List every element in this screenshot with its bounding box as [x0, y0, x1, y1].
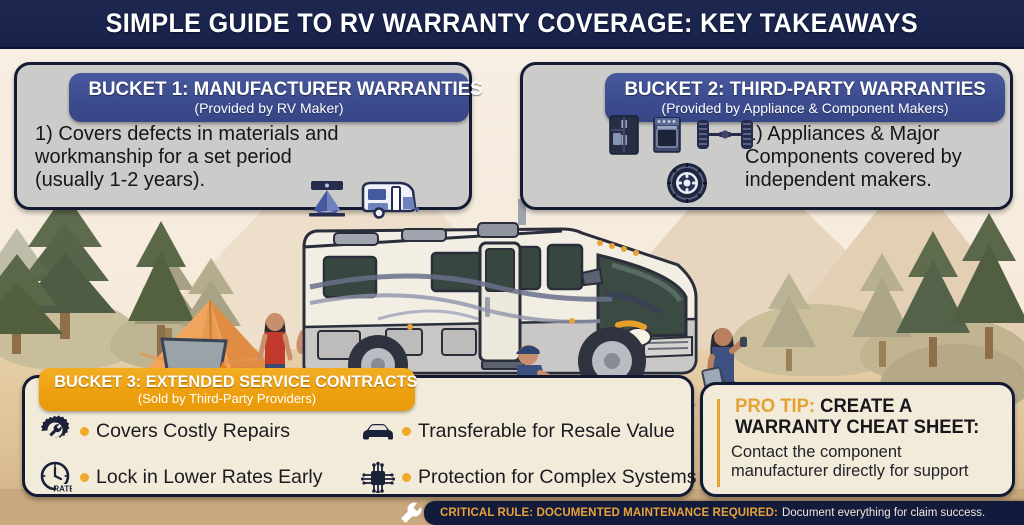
bullet-dot — [402, 473, 411, 482]
bucket-1-panel: BUCKET 1: MANUFACTURER WARRANTIES (Provi… — [14, 62, 472, 210]
bucket-3-panel: BUCKET 3: EXTENDED SERVICE CONTRACTS (So… — [22, 375, 694, 497]
bucket-1-header-subtitle: (Provided by RV Maker) — [81, 100, 457, 116]
list-item-label: Transferable for Resale Value — [418, 420, 675, 443]
bucket-3-header: BUCKET 3: EXTENDED SERVICE CONTRACTS (So… — [39, 368, 415, 411]
bucket-3-header-title: BUCKET 3: EXTENDED SERVICE CONTRACTS — [54, 372, 400, 392]
bucket-2-panel: BUCKET 2: THIRD-PARTY WARRANTIES (Provid… — [520, 62, 1013, 210]
pro-tip-panel: PRO TIP: CREATE A WARRANTY CHEAT SHEET: … — [700, 382, 1015, 497]
pro-tip-heading: PRO TIP: CREATE A WARRANTY CHEAT SHEET: — [735, 396, 1005, 439]
list-item-label: Covers Costly Repairs — [96, 420, 290, 443]
axle-icon — [695, 118, 755, 152]
microchip-icon — [361, 460, 395, 494]
pro-tip-body-line2: manufacturer directly for support — [731, 462, 969, 480]
oven-icon — [653, 117, 681, 153]
pine-tree — [0, 224, 65, 354]
bucket-3-left-column: Covers Costly Repairs — [25, 414, 355, 494]
bucket-3-items: Covers Costly Repairs — [25, 414, 697, 494]
svg-text:RATE: RATE — [53, 485, 72, 494]
critical-rule-bar: CRITICAL RULE: DOCUMENTED MAINTENANCE RE… — [424, 501, 1024, 525]
refrigerator-icon — [609, 115, 639, 155]
bucket-2-header-subtitle: (Provided by Appliance & Component Maker… — [617, 100, 993, 116]
title-bar: SIMPLE GUIDE TO RV WARRANTY COVERAGE: KE… — [0, 0, 1024, 49]
wrench-icon — [398, 500, 424, 525]
bucket-2-icons-top — [609, 115, 755, 155]
page-title: SIMPLE GUIDE TO RV WARRANTY COVERAGE: KE… — [106, 8, 918, 39]
pro-tip-body-line1: Contact the component — [731, 443, 902, 461]
list-item-label: Lock in Lower Rates Early — [96, 466, 323, 489]
list-item[interactable]: Covers Costly Repairs — [39, 414, 355, 448]
bottom-bar-area: CRITICAL RULE: DOCUMENTED MAINTENANCE RE… — [0, 499, 1024, 525]
pro-tip-heading-line2: WARRANTY CHEAT SHEET: — [735, 417, 979, 438]
bucket-2-header-title: BUCKET 2: THIRD-PARTY WARRANTIES — [625, 78, 986, 101]
gear-wrench-icon — [39, 414, 73, 448]
bucket-3-header-subtitle: (Sold by Third-Party Providers) — [47, 391, 407, 406]
pro-tip-content: PRO TIP: CREATE A WARRANTY CHEAT SHEET: … — [731, 396, 1009, 481]
pro-tip-accent-bar — [717, 399, 720, 487]
pine-tree — [946, 209, 1024, 359]
pine-tree-icon — [0, 224, 65, 354]
critical-rule-label: CRITICAL RULE: DOCUMENTED MAINTENANCE RE… — [440, 507, 778, 519]
pine-tree-icon — [756, 269, 822, 371]
bucket-3-right-column: Transferable for Resale Value — [355, 414, 697, 494]
list-item[interactable]: Transferable for Resale Value — [361, 414, 697, 448]
pine-tree-icon — [946, 209, 1024, 359]
list-item[interactable]: Protection for Complex Systems — [361, 460, 697, 494]
list-item-label: Protection for Complex Systems — [418, 466, 697, 489]
critical-rule-text: Document everything for claim success. — [782, 507, 985, 519]
bullet-dot — [80, 473, 89, 482]
bucket-2-body-text: 1) Appliances & Major Components covered… — [745, 123, 1010, 191]
bucket-2-icons-bottom — [666, 162, 708, 209]
bullet-dot — [402, 427, 411, 436]
bucket-1-header: BUCKET 1: MANUFACTURER WARRANTIES (Provi… — [69, 73, 469, 122]
awning-icon — [305, 177, 349, 219]
list-item[interactable]: RATE Lock in Lower Rates Early — [39, 460, 355, 494]
infographic-canvas: SIMPLE GUIDE TO RV WARRANTY COVERAGE: KE… — [0, 0, 1024, 525]
tire-icon — [666, 162, 708, 204]
clock-rate-icon: RATE — [39, 460, 73, 494]
pro-tip-label: PRO TIP: — [735, 396, 815, 417]
pine-tree — [756, 269, 822, 371]
bullet-dot — [80, 427, 89, 436]
travel-trailer-icon — [359, 177, 419, 219]
bucket-1-icons — [305, 177, 419, 219]
pro-tip-heading-line1: CREATE A — [815, 396, 912, 417]
bucket-1-header-title: BUCKET 1: MANUFACTURER WARRANTIES — [89, 78, 450, 101]
car-icon — [361, 414, 395, 448]
pro-tip-body: Contact the component manufacturer direc… — [731, 443, 1009, 481]
